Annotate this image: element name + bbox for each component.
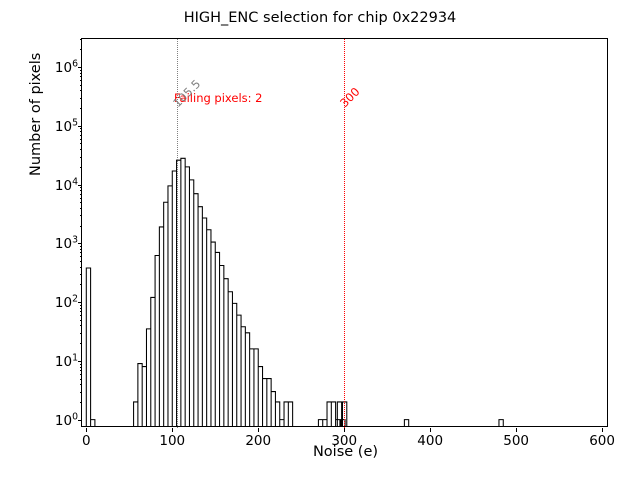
y-tick-minor bbox=[80, 190, 82, 191]
x-tick-major bbox=[344, 428, 345, 432]
y-tick-minor bbox=[80, 315, 82, 316]
plot-axes: Number of pixels Noise (e) 1001011021031… bbox=[81, 38, 608, 427]
y-axis-label: Number of pixels bbox=[28, 53, 44, 176]
y-tick-minor bbox=[80, 252, 82, 253]
y-tick-minor bbox=[80, 320, 82, 321]
y-tick-major bbox=[78, 243, 82, 244]
y-tick-major bbox=[78, 126, 82, 127]
x-tick-label: 600 bbox=[589, 433, 615, 449]
x-tick-label: 300 bbox=[331, 433, 357, 449]
matplotlib-figure: HIGH_ENC selection for chip 0x22934 Numb… bbox=[0, 0, 640, 480]
y-tick-label: 106 bbox=[55, 58, 78, 76]
y-tick-minor bbox=[80, 49, 82, 50]
y-tick-minor bbox=[80, 392, 82, 393]
y-tick-minor bbox=[80, 311, 82, 312]
y-tick-label: 103 bbox=[55, 235, 78, 253]
y-tick-minor bbox=[80, 128, 82, 129]
x-tick-major bbox=[172, 428, 173, 432]
y-tick-minor bbox=[80, 208, 82, 209]
y-tick-minor bbox=[80, 246, 82, 247]
x-tick-major bbox=[516, 428, 517, 432]
x-tick-major bbox=[258, 428, 259, 432]
y-tick-minor bbox=[80, 367, 82, 368]
y-tick-minor bbox=[80, 39, 82, 40]
x-tick-major bbox=[602, 428, 603, 432]
y-tick-minor bbox=[80, 249, 82, 250]
y-tick-minor bbox=[80, 305, 82, 306]
y-tick-major bbox=[78, 185, 82, 186]
y-tick-minor bbox=[80, 384, 82, 385]
y-tick-minor bbox=[80, 135, 82, 136]
y-tick-label: 104 bbox=[55, 176, 78, 194]
y-tick-minor bbox=[80, 364, 82, 365]
y-tick-minor bbox=[80, 379, 82, 380]
y-tick-minor bbox=[80, 157, 82, 158]
y-tick-label: 100 bbox=[55, 411, 78, 429]
y-tick-major bbox=[78, 302, 82, 303]
y-tick-minor bbox=[80, 374, 82, 375]
x-tick-label: 500 bbox=[503, 433, 529, 449]
y-tick-minor bbox=[80, 325, 82, 326]
y-tick-major bbox=[78, 361, 82, 362]
y-tick-minor bbox=[80, 143, 82, 144]
y-tick-minor bbox=[80, 108, 82, 109]
y-tick-minor bbox=[80, 215, 82, 216]
chart-title: HIGH_ENC selection for chip 0x22934 bbox=[0, 10, 640, 26]
y-tick-minor bbox=[80, 98, 82, 99]
y-tick-minor bbox=[80, 131, 82, 132]
y-tick-minor bbox=[80, 80, 82, 81]
y-tick-minor bbox=[80, 308, 82, 309]
x-tick-label: 0 bbox=[82, 433, 91, 449]
x-tick-major bbox=[430, 428, 431, 432]
x-tick-label: 200 bbox=[245, 433, 271, 449]
x-tick-major bbox=[86, 428, 87, 432]
y-tick-minor bbox=[80, 274, 82, 275]
y-tick-minor bbox=[80, 343, 82, 344]
y-tick-minor bbox=[80, 402, 82, 403]
y-tick-minor bbox=[80, 226, 82, 227]
y-tick-minor bbox=[80, 149, 82, 150]
y-tick-minor bbox=[80, 194, 82, 195]
y-tick-minor bbox=[80, 333, 82, 334]
x-tick-label: 100 bbox=[159, 433, 185, 449]
y-tick-minor bbox=[80, 76, 82, 77]
y-tick-minor bbox=[80, 139, 82, 140]
y-tick-minor bbox=[80, 70, 82, 71]
y-tick-minor bbox=[80, 90, 82, 91]
y-tick-minor bbox=[80, 261, 82, 262]
y-tick-minor bbox=[80, 187, 82, 188]
x-tick-label: 400 bbox=[417, 433, 443, 449]
y-tick-label: 102 bbox=[55, 293, 78, 311]
y-tick-major bbox=[78, 420, 82, 421]
y-tick-label: 105 bbox=[55, 117, 78, 135]
y-tick-minor bbox=[80, 73, 82, 74]
y-tick-minor bbox=[80, 85, 82, 86]
y-tick-minor bbox=[80, 167, 82, 168]
y-tick-minor bbox=[80, 267, 82, 268]
y-tick-minor bbox=[80, 202, 82, 203]
y-tick-label: 101 bbox=[55, 352, 78, 370]
histogram-outline bbox=[86, 158, 503, 426]
y-tick-minor bbox=[80, 198, 82, 199]
y-tick-major bbox=[78, 67, 82, 68]
y-tick-minor bbox=[80, 256, 82, 257]
y-tick-minor bbox=[80, 370, 82, 371]
y-tick-minor bbox=[80, 284, 82, 285]
